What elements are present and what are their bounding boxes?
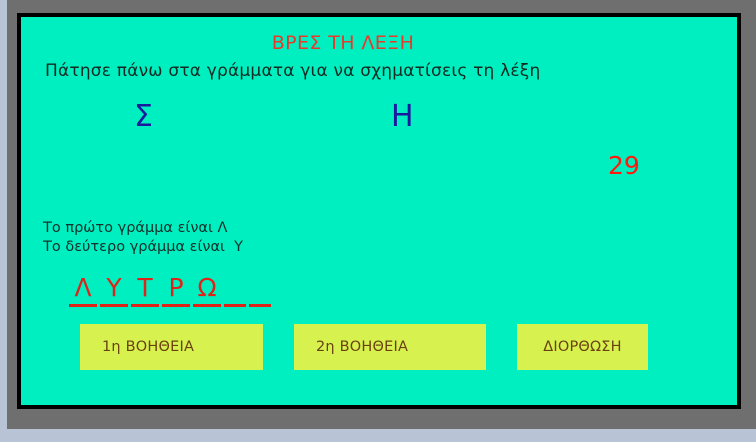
hint-line-first-letter: Το πρώτο γράμμα είναι Λ	[43, 219, 243, 238]
floating-letter-eta[interactable]: Η	[391, 102, 414, 132]
floating-letter-sigma[interactable]: Σ	[134, 102, 153, 132]
instruction-text: Πάτησε πάνω στα γράμματα για να σχηματίσ…	[45, 61, 540, 81]
word-slot[interactable]: Ρ	[162, 275, 190, 307]
app-window: ΒΡΕΣ ΤΗ ΛΕΞΗ Πάτησε πάνω στα γράμματα γι…	[7, 0, 756, 429]
second-hint-button[interactable]: 2η ΒΟΗΘΕΙΑ	[294, 324, 486, 370]
hint-line-second-letter: Το δεύτερο γράμμα είναι Υ	[43, 238, 243, 257]
word-slot[interactable]	[249, 301, 271, 307]
game-board: ΒΡΕΣ ΤΗ ΛΕΞΗ Πάτησε πάνω στα γράμματα γι…	[21, 17, 737, 405]
word-slot[interactable]: Τ	[131, 275, 159, 307]
score-counter: 29	[608, 153, 640, 178]
first-hint-button[interactable]: 1η ΒΟΗΘΕΙΑ	[80, 324, 263, 370]
correction-button[interactable]: ΔΙΟΡΘΩΣΗ	[517, 324, 648, 370]
page-title: ΒΡΕΣ ΤΗ ΛΕΞΗ	[21, 32, 737, 54]
word-slot[interactable]: Ω	[193, 275, 221, 307]
word-slot[interactable]: Λ	[69, 275, 97, 307]
word-slot[interactable]: Υ	[100, 275, 128, 307]
word-slots: Λ Υ Τ Ρ Ω	[69, 275, 271, 307]
hint-list: Το πρώτο γράμμα είναι Λ Το δεύτερο γράμμ…	[43, 219, 243, 258]
word-slot[interactable]	[224, 301, 246, 307]
game-frame: ΒΡΕΣ ΤΗ ΛΕΞΗ Πάτησε πάνω στα γράμματα γι…	[17, 13, 741, 409]
